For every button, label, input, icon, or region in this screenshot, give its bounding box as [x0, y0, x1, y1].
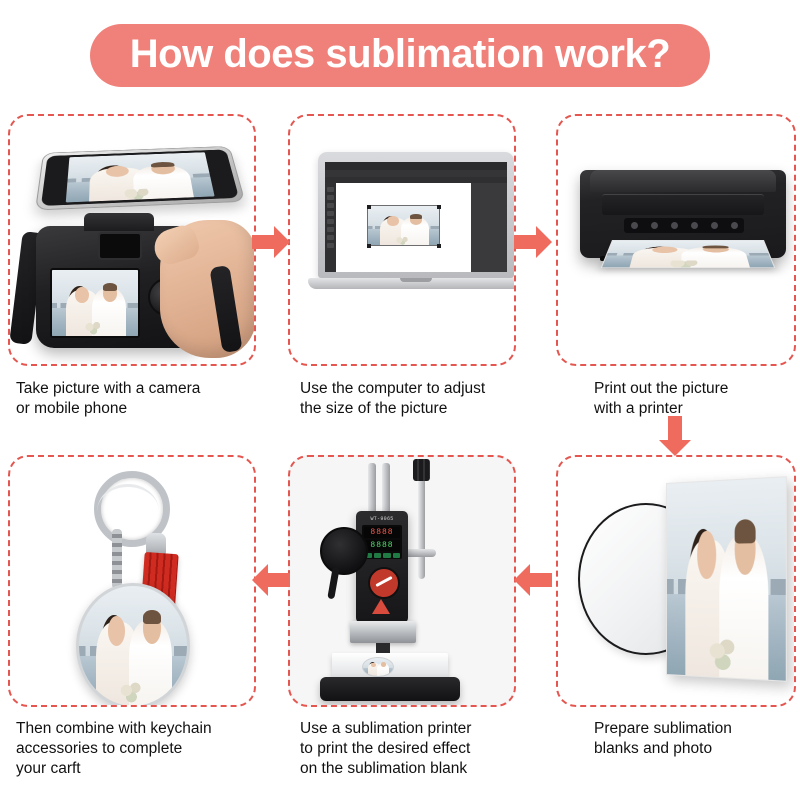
- printer-button[interactable]: [671, 222, 678, 229]
- arrow-down-step3-to-step6: [655, 414, 695, 458]
- phone-screen-photo: [65, 152, 215, 202]
- photo-keychain: [50, 471, 220, 701]
- camera-viewfinder: [98, 232, 142, 260]
- smartphone: [35, 146, 245, 210]
- editor-image-photo: [368, 206, 438, 245]
- machine-label: WT-9065: [356, 516, 408, 522]
- printer-scanner-lid: [602, 194, 764, 215]
- editor-toolbar: [325, 170, 507, 177]
- step-panel-1[interactable]: [8, 114, 256, 366]
- camera-pentaprism: [84, 213, 154, 231]
- editor-canvas: [336, 183, 471, 272]
- press-adjust-wheel[interactable]: [320, 527, 368, 575]
- camera-lcd-photo: [50, 268, 140, 338]
- scene-camera-phone: [10, 116, 254, 364]
- keychain-chain: [112, 529, 122, 589]
- printer-button[interactable]: [651, 222, 658, 229]
- step-panel-2[interactable]: [288, 114, 516, 366]
- printer-button[interactable]: [711, 222, 718, 229]
- step-caption-5: Use a sublimation printer to print the d…: [300, 719, 540, 778]
- display-key[interactable]: [393, 553, 401, 558]
- macbook-laptop: [308, 152, 516, 302]
- inkjet-printer: [580, 156, 786, 274]
- arrow-right-step2-to-step3: [512, 222, 554, 262]
- round-photo-disc: [76, 583, 190, 707]
- display-key[interactable]: [383, 553, 391, 558]
- digital-controller-display: 8888 8888: [362, 525, 402, 559]
- printer-top-cover: [590, 170, 776, 192]
- scene-blanks: [558, 457, 794, 705]
- phone-bezel: [41, 149, 239, 205]
- display-keys[interactable]: [364, 553, 400, 558]
- arrow-left-step5-to-step4: [250, 560, 292, 600]
- arrow-left-step6-to-step5: [512, 560, 554, 600]
- step-caption-3: Print out the picture with a printer: [594, 379, 800, 419]
- editor-panels: [471, 183, 507, 272]
- step-panel-5[interactable]: WT-9065 8888 8888: [288, 455, 516, 707]
- press-heating-plate: [350, 621, 416, 643]
- blank-on-bed-photo: [362, 657, 394, 677]
- printer-power-button[interactable]: [631, 222, 638, 229]
- scene-laptop: [290, 116, 514, 364]
- press-head: WT-9065 8888 8888: [356, 511, 408, 623]
- warning-prohibition-icon: [368, 567, 400, 599]
- step-caption-4: Then combine with keychain accessories t…: [16, 719, 266, 778]
- display-key[interactable]: [374, 553, 382, 558]
- printer-control-panel[interactable]: [624, 218, 744, 233]
- arrow-right-step1-to-step2: [250, 222, 292, 262]
- scene-printer: [558, 116, 794, 364]
- printed-photo: [666, 476, 787, 682]
- press-lever-grip[interactable]: [413, 459, 430, 481]
- step-caption-1: Take picture with a camera or mobile pho…: [16, 379, 266, 419]
- scene-heat-press: WT-9065 8888 8888: [290, 457, 514, 705]
- press-stem: [376, 643, 390, 653]
- steps-grid: Take picture with a camera or mobile pho…: [0, 0, 800, 800]
- display-top-value: 8888: [364, 527, 400, 538]
- step-caption-2: Use the computer to adjust the size of t…: [300, 379, 530, 419]
- press-wheel-arm: [327, 567, 339, 600]
- editor-tool-palette: [325, 183, 336, 272]
- step-panel-3[interactable]: [556, 114, 796, 366]
- editor-menubar: [325, 162, 507, 170]
- hand: [160, 220, 256, 358]
- hot-surface-warning-icon: [372, 599, 390, 614]
- press-base: [320, 677, 460, 701]
- printer-button[interactable]: [731, 222, 738, 229]
- step-panel-4[interactable]: [8, 455, 256, 707]
- step-panel-6[interactable]: [556, 455, 796, 707]
- laptop-screen: [325, 162, 507, 272]
- display-bottom-value: 8888: [364, 540, 400, 551]
- printed-photo-sheet: [601, 240, 776, 268]
- heat-press-machine: WT-9065 8888 8888: [314, 463, 474, 703]
- printer-button[interactable]: [691, 222, 698, 229]
- step-caption-6: Prepare sublimation blanks and photo: [594, 719, 800, 759]
- laptop-lid: [318, 152, 514, 278]
- laptop-notch: [400, 278, 432, 282]
- scene-keychain: [10, 457, 254, 705]
